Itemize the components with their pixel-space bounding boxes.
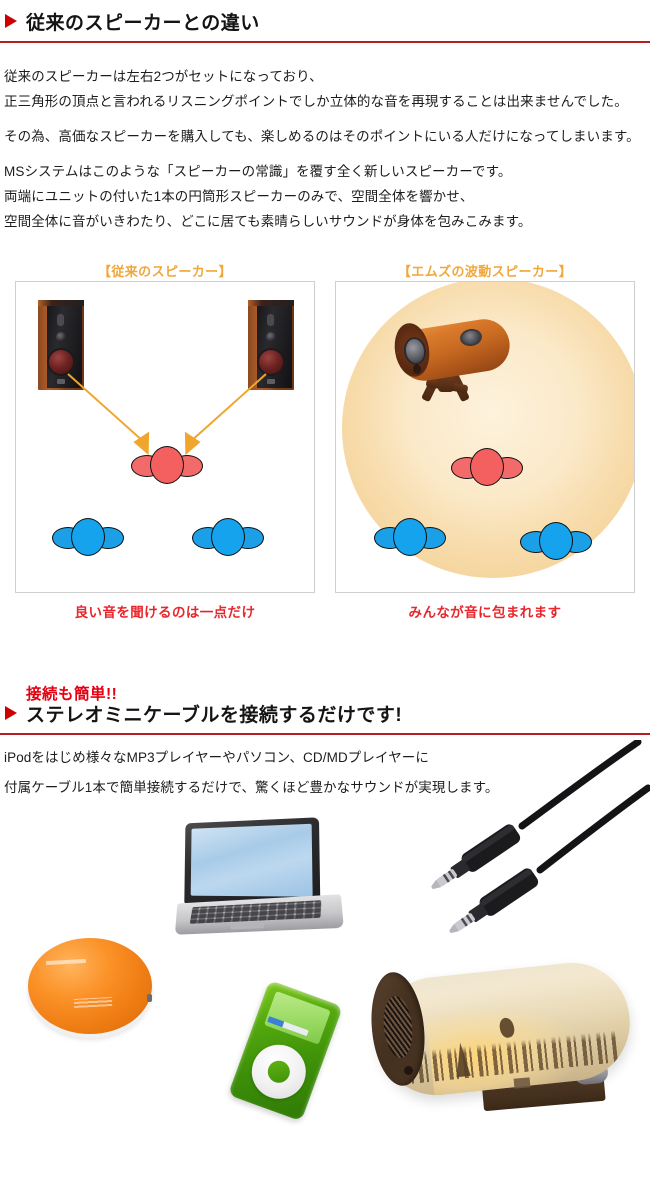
heading-divider xyxy=(0,733,650,735)
comparison-left-panel xyxy=(15,281,315,593)
listener-blue-icon xyxy=(192,518,264,558)
comparison-left-caption: 良い音を聞けるのは一点だけ xyxy=(15,601,315,621)
comparison-right-caption: みんなが音に包まれます xyxy=(335,601,635,621)
paragraph-line: 両端にユニットの付いた1本の円筒形スピーカーのみで、空間全体を響かせ、 xyxy=(4,184,473,209)
paragraph-line: 従来のスピーカーは左右2つがセットになっており、 xyxy=(4,64,323,89)
listener-blue-icon xyxy=(52,518,124,558)
section-2-kicker: 接続も簡単!! xyxy=(0,686,650,704)
comparison-right-panel xyxy=(335,281,635,593)
page-title: 従来のスピーカーとの違い xyxy=(26,14,260,35)
cylinder-wave-speaker-icon xyxy=(398,324,528,414)
product-photo-scene xyxy=(0,740,650,1180)
stereo-mini-cable-image xyxy=(390,740,650,940)
wave-speaker-lamp-image xyxy=(378,970,646,1130)
listener-red-icon xyxy=(131,446,203,486)
portable-cd-player-image xyxy=(28,938,158,1044)
listener-blue-icon xyxy=(374,518,446,558)
paragraph-line: MSシステムはこのような「スピーカーの常識」を覆す全く新しいスピーカーです。 xyxy=(4,159,511,184)
laptop-computer-image xyxy=(172,820,352,940)
triangle-right-icon xyxy=(5,14,17,28)
section-1-heading: 従来のスピーカーとの違い xyxy=(0,14,650,43)
comparison-left-title: 【従来のスピーカー】 xyxy=(15,261,315,280)
section-2-title: ステレオミニケーブルを接続するだけです! xyxy=(26,706,402,727)
section-2-heading: 接続も簡単!! ステレオミニケーブルを接続するだけです! xyxy=(0,686,650,735)
paragraph-line: 空間全体に音がいきわたり、どこに居ても素晴らしいサウンドが身体を包みこみます。 xyxy=(4,209,531,234)
triangle-right-icon xyxy=(5,706,17,720)
listener-blue-icon xyxy=(520,522,592,562)
paragraph-line: 正三角形の頂点と言われるリスニングポイントでしか立体的な音を再現することは出来ま… xyxy=(4,89,628,114)
heading-divider xyxy=(0,41,650,43)
paragraph-line: その為、高価なスピーカーを購入しても、楽しめるのはそのポイントにいる人だけになっ… xyxy=(4,124,640,149)
comparison-right-title: 【エムズの波動スピーカー】 xyxy=(335,261,635,280)
listener-red-icon xyxy=(451,448,523,488)
ipod-nano-green-image xyxy=(227,980,345,1124)
